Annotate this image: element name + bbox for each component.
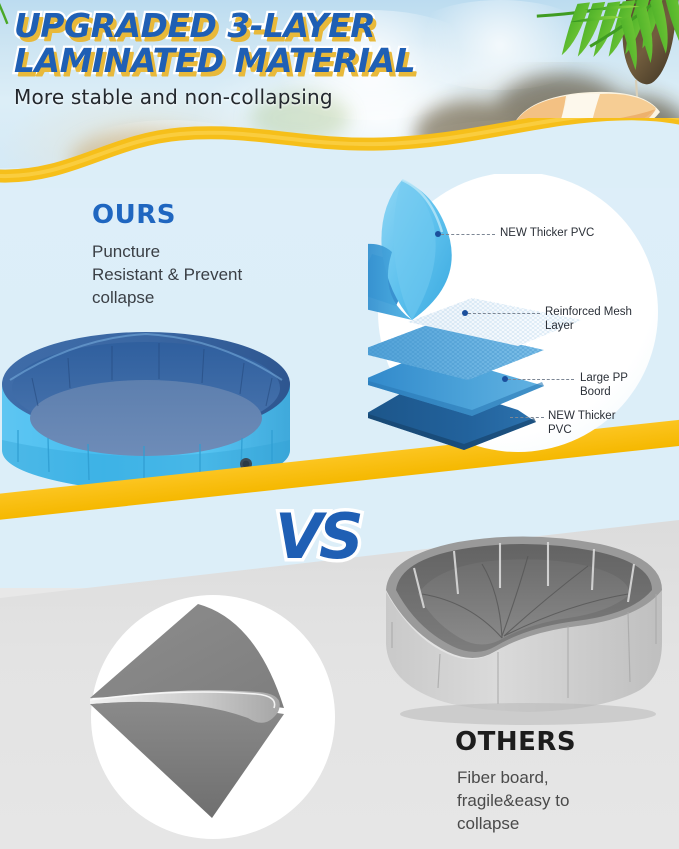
callout-line-mesh <box>468 313 540 314</box>
others-description: Fiber board, fragile&easy to collapse <box>457 766 657 835</box>
callout-dot-mesh <box>462 310 468 316</box>
callout-line-pvc-top <box>441 234 495 235</box>
callout-dot-pvc-top <box>435 231 441 237</box>
ours-heading: OURS <box>92 200 176 230</box>
callout-label-pp-board: Large PP Boord <box>580 372 628 399</box>
poster-title-block: UPGRADED 3-LAYER LAMINATED MATERIAL More… <box>14 8 484 109</box>
callout-line-pvc-bottom <box>510 417 544 418</box>
callout-label-mesh: Reinforced Mesh Layer <box>545 306 632 333</box>
callout-label-pvc-bottom: NEW Thicker PVC <box>548 410 616 437</box>
poster-subtitle: More stable and non-collapsing <box>14 85 484 109</box>
title-line-1: UPGRADED 3-LAYER <box>14 8 484 43</box>
product-comparison-poster: UPGRADED 3-LAYER LAMINATED MATERIAL More… <box>0 0 679 849</box>
callout-dot-pp-board <box>502 376 508 382</box>
layer-structure-diagram <box>368 174 679 464</box>
callout-label-pvc-top: NEW Thicker PVC <box>500 227 594 241</box>
ours-description: Puncture Resistant & Prevent collapse <box>92 240 292 309</box>
callout-line-pp-board <box>508 379 574 380</box>
title-line-2: LAMINATED MATERIAL <box>14 43 484 78</box>
vs-badge: VS <box>275 500 360 573</box>
others-heading: OTHERS <box>455 727 576 757</box>
gray-collapsed-pool-image <box>378 532 670 728</box>
gray-peeling-sheet-image <box>88 592 338 842</box>
